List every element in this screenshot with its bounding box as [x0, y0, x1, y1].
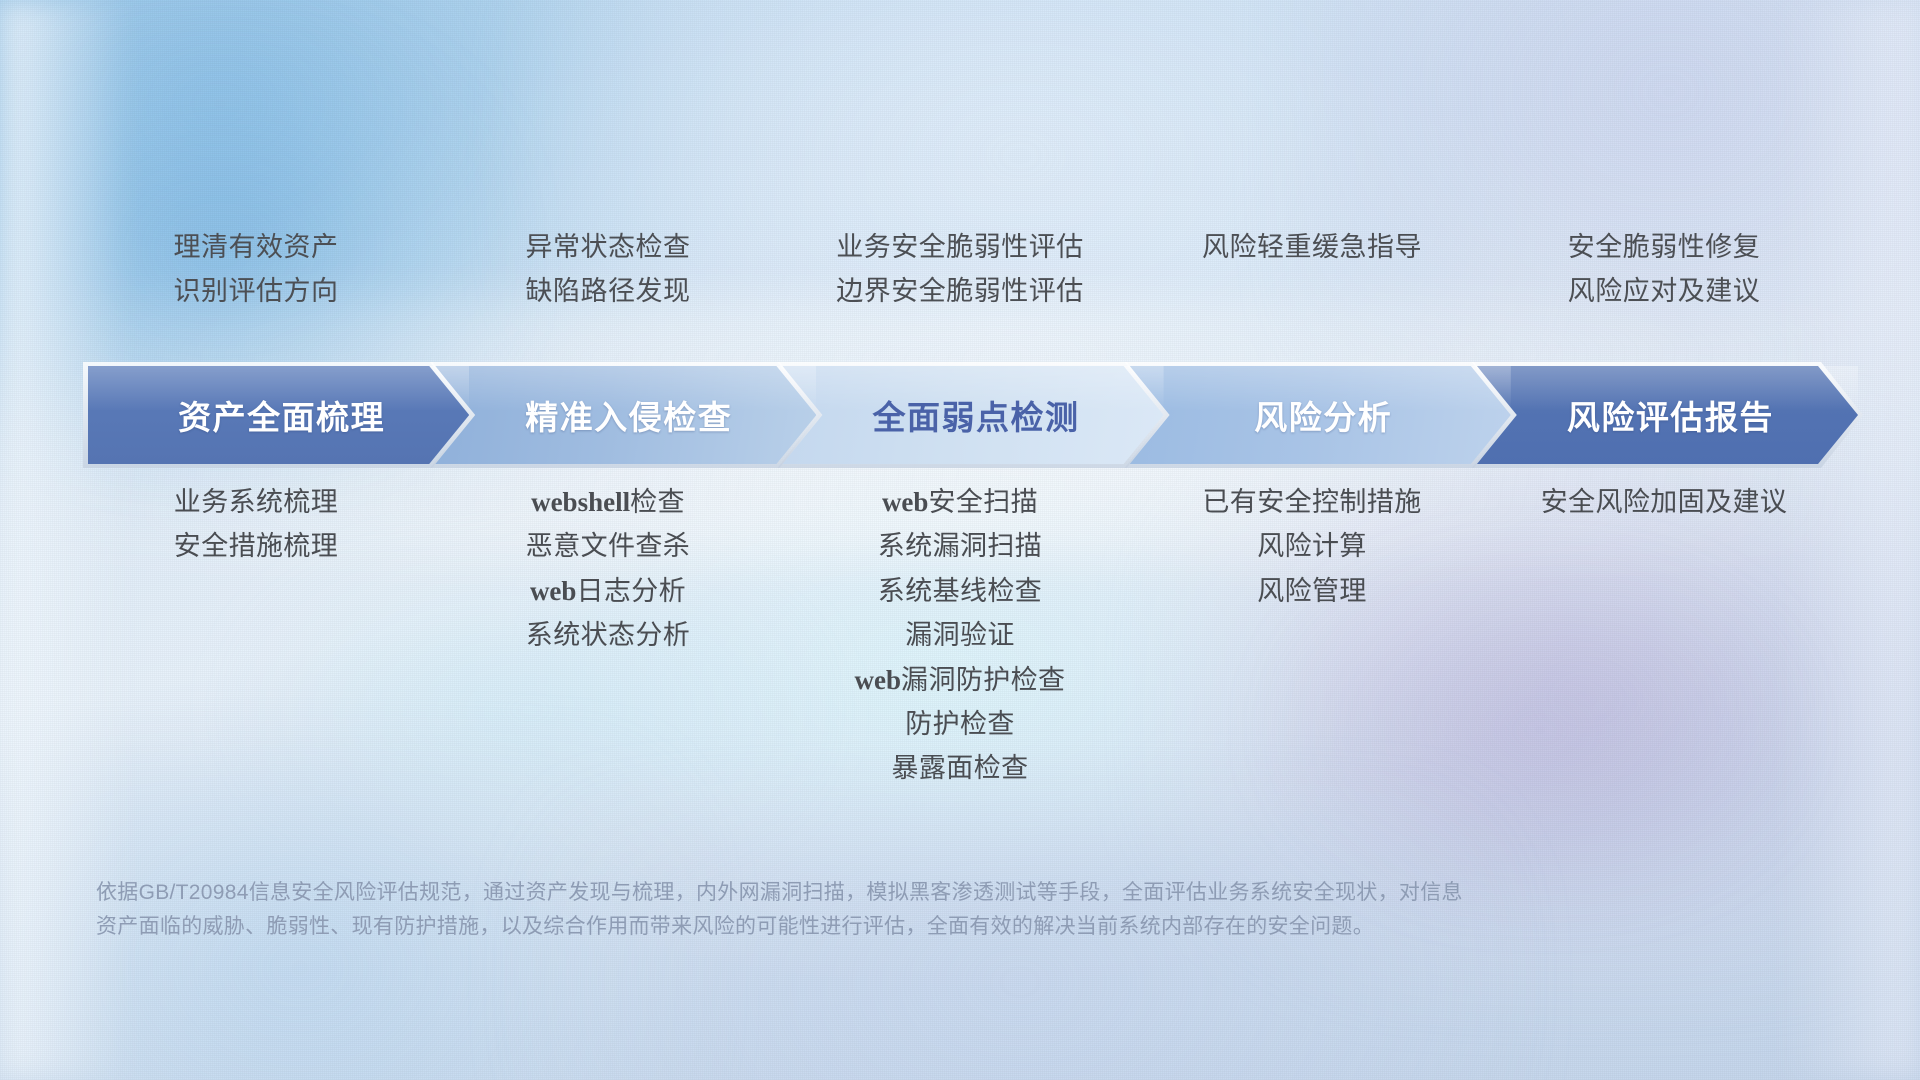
stage-activity-item: 暴露面检查	[892, 752, 1029, 784]
stage-activity-item: 风险计算	[1257, 530, 1367, 562]
stage-activity-item: web安全扫描	[882, 486, 1038, 518]
activity-latin-token: web	[855, 665, 902, 695]
stage-arrow-label: 资产全面梳理	[172, 391, 385, 439]
stage-activity-item: 风险管理	[1257, 575, 1367, 607]
stage-input-item: 业务安全脆弱性评估	[836, 232, 1084, 264]
footer-line-2: 资产面临的威胁、脆弱性、现有防护措施，以及综合作用而带来风险的可能性进行评估，全…	[96, 910, 1656, 944]
stage-activity-item: web漏洞防护检查	[855, 664, 1066, 696]
stage-inputs-row: 理清有效资产识别评估方向异常状态检查缺陷路径发现业务安全脆弱性评估边界安全脆弱性…	[80, 232, 1840, 362]
stage-activity-item: 漏洞验证	[905, 619, 1015, 651]
stage-activity-item: 系统状态分析	[526, 619, 690, 651]
stage-inputs-column-4: 风险轻重缓急指导	[1136, 232, 1488, 362]
stage-arrow-label: 精准入侵检查	[519, 391, 732, 439]
stage-arrow-4[interactable]: 风险分析	[1130, 366, 1511, 464]
stage-activities-column-2: webshell检查恶意文件查杀web日志分析系统状态分析	[432, 486, 784, 906]
stage-activities-row: 业务系统梳理安全措施梳理webshell检查恶意文件查杀web日志分析系统状态分…	[80, 486, 1840, 906]
stage-activity-item: 已有安全控制措施	[1202, 486, 1421, 518]
stage-activities-column-3: web安全扫描系统漏洞扫描系统基线检查漏洞验证web漏洞防护检查防护检查暴露面检…	[784, 486, 1136, 906]
stage-activity-item: web日志分析	[530, 575, 686, 607]
stage-activity-item: 防护检查	[905, 708, 1015, 740]
process-flow-diagram: 理清有效资产识别评估方向异常状态检查缺陷路径发现业务安全脆弱性评估边界安全脆弱性…	[0, 0, 1920, 1080]
stage-activity-item: 恶意文件查杀	[526, 530, 690, 562]
stage-activities-column-1: 业务系统梳理安全措施梳理	[80, 486, 432, 906]
stage-activity-item: 安全风险加固及建议	[1541, 486, 1788, 518]
stage-arrow-label: 风险分析	[1248, 391, 1392, 439]
activity-latin-token: web	[530, 576, 577, 606]
stage-arrow-label: 全面弱点检测	[867, 391, 1080, 439]
stage-inputs-column-1: 理清有效资产识别评估方向	[80, 232, 432, 362]
stage-input-item: 风险轻重缓急指导	[1202, 232, 1422, 264]
stage-arrow-label: 风险评估报告	[1561, 391, 1774, 439]
stage-input-item: 理清有效资产	[174, 232, 339, 264]
stage-input-item: 缺陷路径发现	[526, 276, 691, 308]
stage-activity-item: 安全措施梳理	[174, 530, 338, 562]
stage-activities-column-5: 安全风险加固及建议	[1488, 486, 1840, 906]
stage-input-item: 异常状态检查	[526, 232, 691, 264]
stage-input-item: 识别评估方向	[174, 276, 339, 308]
activity-latin-token: webshell	[531, 487, 630, 517]
stage-activity-item: 系统基线检查	[878, 575, 1042, 607]
stage-arrow-5[interactable]: 风险评估报告	[1477, 366, 1858, 464]
stage-inputs-column-5: 安全脆弱性修复风险应对及建议	[1488, 232, 1840, 362]
stage-input-item: 风险应对及建议	[1568, 276, 1761, 308]
stage-activity-item: 业务系统梳理	[174, 486, 338, 518]
stage-arrow-3[interactable]: 全面弱点检测	[782, 366, 1163, 464]
stage-activities-column-4: 已有安全控制措施风险计算风险管理	[1136, 486, 1488, 906]
footer-line-1: 依据GB/T20984信息安全风险评估规范，通过资产发现与梳理，内外网漏洞扫描，…	[96, 876, 1656, 910]
footer-description: 依据GB/T20984信息安全风险评估规范，通过资产发现与梳理，内外网漏洞扫描，…	[96, 876, 1656, 944]
stage-activity-item: 系统漏洞扫描	[878, 530, 1042, 562]
stage-input-item: 安全脆弱性修复	[1568, 232, 1761, 264]
stage-inputs-column-3: 业务安全脆弱性评估边界安全脆弱性评估	[784, 232, 1136, 362]
stage-activity-item: webshell检查	[531, 486, 685, 518]
stage-inputs-column-2: 异常状态检查缺陷路径发现	[432, 232, 784, 362]
activity-latin-token: web	[882, 487, 929, 517]
stage-arrow-band: 资产全面梳理精准入侵检查全面弱点检测风险分析风险评估报告	[88, 366, 1858, 464]
stage-arrow-2[interactable]: 精准入侵检查	[435, 366, 816, 464]
stage-arrow-1[interactable]: 资产全面梳理	[88, 366, 469, 464]
stage-input-item: 边界安全脆弱性评估	[836, 276, 1084, 308]
